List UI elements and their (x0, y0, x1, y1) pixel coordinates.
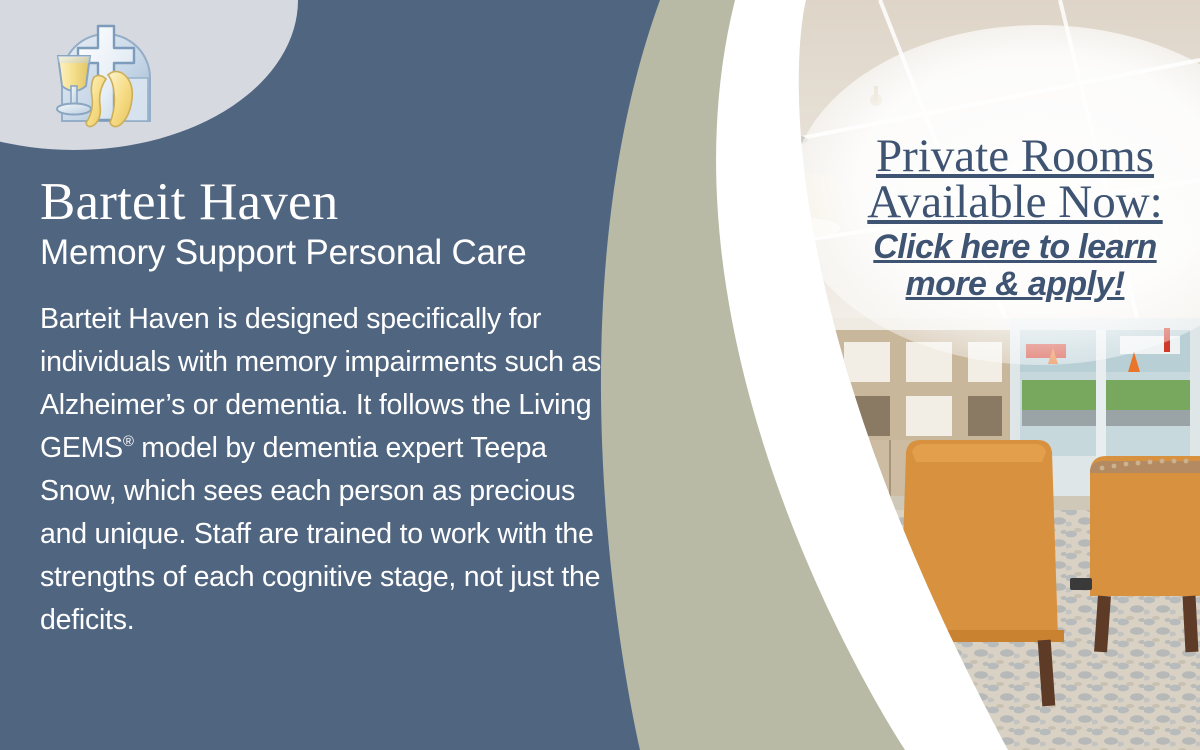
page-subtitle: Memory Support Personal Care (40, 233, 615, 272)
body-paragraph: Barteit Haven is designed specifically f… (40, 298, 615, 642)
callout-cta-line1: Click here to learn (845, 229, 1185, 266)
private-rooms-callout-link[interactable]: Private Rooms Available Now: Click here … (845, 133, 1185, 303)
barteit-haven-promo-banner: Barteit Haven Memory Support Personal Ca… (0, 0, 1200, 750)
cross-chalice-stole-emblem-icon (42, 16, 170, 136)
left-copy-block: Barteit Haven Memory Support Personal Ca… (40, 175, 615, 642)
callout-headline-line1: Private Rooms (845, 133, 1185, 179)
callout-cta-line2: more & apply! (845, 266, 1185, 303)
body-text-part2: model by dementia expert Teepa Snow, whi… (40, 432, 600, 636)
callout-headline-line2: Available Now: (845, 179, 1185, 225)
registered-mark: ® (123, 434, 134, 450)
page-title: Barteit Haven (40, 175, 615, 229)
callout-cta[interactable]: Click here to learn more & apply! (845, 229, 1185, 303)
callout-headline: Private Rooms Available Now: (845, 133, 1185, 225)
